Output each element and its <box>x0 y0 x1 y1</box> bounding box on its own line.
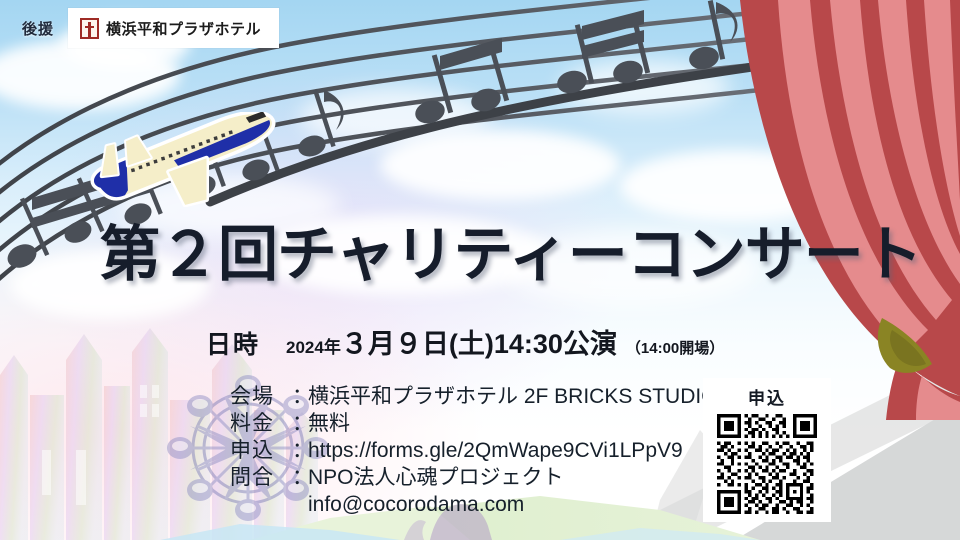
qr-label: 申込 <box>709 384 825 409</box>
info-value-fee: 無料 <box>308 410 350 437</box>
info-row-fee: 料金 ： 無料 <box>230 410 718 437</box>
hotel-crest-icon <box>80 18 99 39</box>
info-colon: ： <box>292 464 308 491</box>
info-label: 申込 <box>230 437 292 464</box>
qr-block[interactable]: 申込 <box>703 378 831 522</box>
door-open-time: （14:00開場） <box>626 337 724 358</box>
info-block: 会場 ： 横浜平和プラザホテル 2F BRICKS STUDIO 料金 ： 無料… <box>230 383 718 518</box>
date-line: 日時 2024年 ３月９日(土)14:30公演 （14:00開場） <box>206 322 724 361</box>
info-colon: ： <box>292 410 308 437</box>
concert-poster: 後援 横浜平和プラザホテル 第２回チャリティーコンサート 日時 2024年 ３月… <box>0 0 960 540</box>
info-colon: ： <box>292 437 308 464</box>
application-url[interactable]: https://forms.gle/2QmWape9CVi1LPpV9 <box>308 437 683 464</box>
info-label: 問合 <box>230 464 292 491</box>
info-row-contact: 問合 ： NPO法人心魂プロジェクト <box>230 464 718 491</box>
info-value-venue: 横浜平和プラザホテル 2F BRICKS STUDIO <box>308 383 718 410</box>
airplane-icon <box>78 112 288 207</box>
qr-code-icon[interactable] <box>717 414 817 514</box>
date-year: 2024年 <box>286 333 341 358</box>
info-value-contact: NPO法人心魂プロジェクト <box>308 464 564 491</box>
info-row-venue: 会場 ： 横浜平和プラザホテル 2F BRICKS STUDIO <box>230 383 718 410</box>
sponsor-row: 後援 横浜平和プラザホテル <box>22 8 279 48</box>
date-label: 日時 <box>206 325 260 361</box>
info-label: 会場 <box>230 383 292 410</box>
sponsor-card: 横浜平和プラザホテル <box>68 8 279 48</box>
date-main: ３月９日(土)14:30公演 <box>341 322 617 361</box>
info-colon: ： <box>292 383 308 410</box>
sponsor-hotel-name: 横浜平和プラザホテル <box>106 18 261 39</box>
contact-email[interactable]: info@cocorodama.com <box>230 491 718 518</box>
info-row-application: 申込 ： https://forms.gle/2QmWape9CVi1LPpV9 <box>230 437 718 464</box>
info-label: 料金 <box>230 410 292 437</box>
sponsor-label: 後援 <box>22 18 54 39</box>
page-title: 第２回チャリティーコンサート <box>100 206 922 293</box>
